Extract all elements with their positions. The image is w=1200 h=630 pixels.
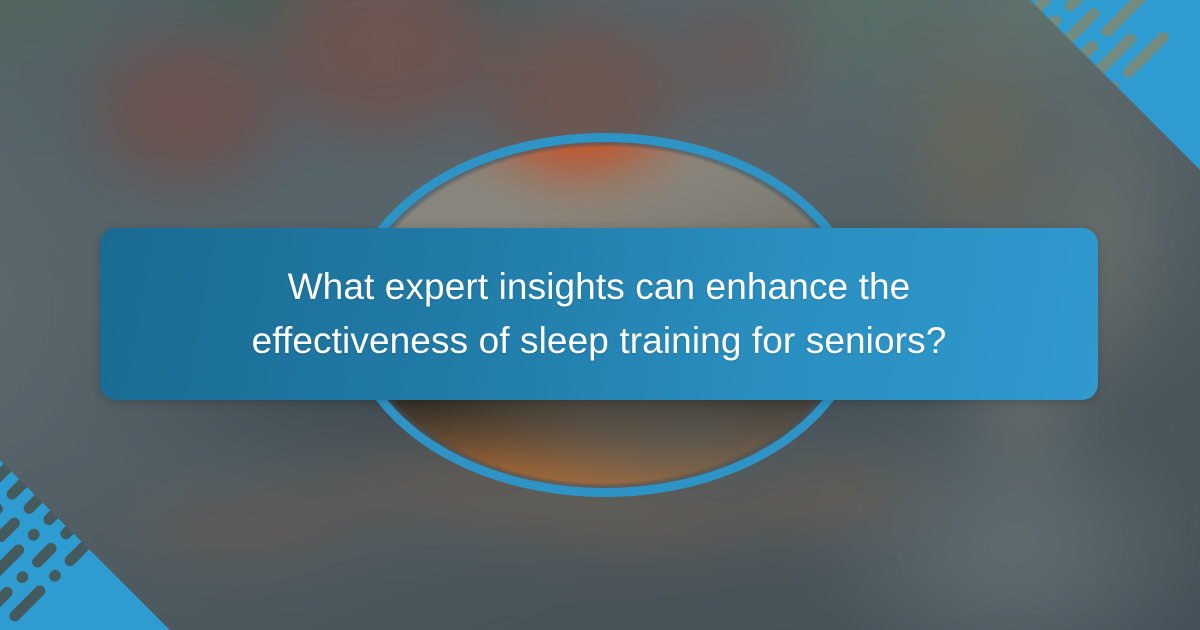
page-title: What expert insights can enhance the eff…: [249, 260, 949, 367]
title-banner: What expert insights can enhance the eff…: [100, 228, 1098, 400]
social-card: What expert insights can enhance the eff…: [0, 0, 1200, 630]
